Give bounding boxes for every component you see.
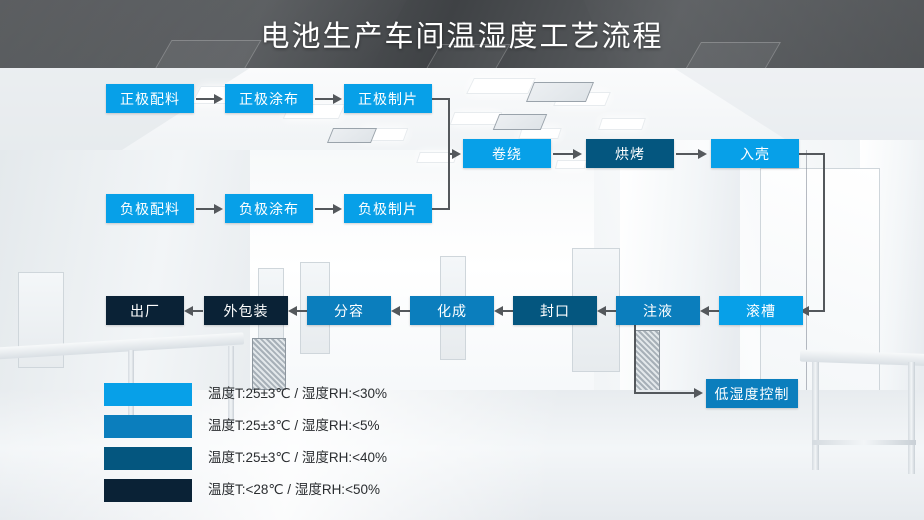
process-node-label: 正极配料 (120, 89, 180, 109)
process-node-anode-mixing[interactable]: 负极配料 (106, 194, 194, 223)
process-node-cathode-sheeting[interactable]: 正极制片 (344, 84, 432, 113)
glass-mullion (806, 150, 807, 418)
arrow-head-right (333, 204, 342, 214)
arrow-head-left (700, 306, 709, 316)
legend-item: 温度T:25±3℃ / 湿度RH:<40% (104, 447, 534, 479)
legend-label: 温度T:25±3℃ / 湿度RH:<40% (208, 446, 387, 466)
legend-item: 温度T:<28℃ / 湿度RH:<50% (104, 479, 534, 511)
process-node-label: 化成 (437, 301, 467, 321)
ceiling-light (598, 118, 646, 130)
process-node-label: 出厂 (130, 301, 160, 321)
legend-color-swatch (104, 447, 192, 470)
connector-line (196, 98, 216, 100)
process-node-label: 烘烤 (615, 144, 645, 164)
legend-label: 温度T:25±3℃ / 湿度RH:<30% (208, 382, 387, 402)
ceiling-light (466, 78, 536, 94)
connector-line (553, 153, 575, 155)
slide-canvas: 电池生产车间温湿度工艺流程 (0, 0, 924, 520)
connector-line (315, 208, 335, 210)
hepa-vent (327, 128, 377, 143)
process-node-shipping[interactable]: 出厂 (106, 296, 184, 325)
arrow-head-left (391, 306, 400, 316)
connector-line (196, 208, 216, 210)
workbench-right-leg (812, 362, 819, 470)
process-node-label: 注液 (643, 301, 673, 321)
arrow-head-right (573, 149, 582, 159)
arrow-head-right (214, 204, 223, 214)
process-node-sealing[interactable]: 封口 (513, 296, 597, 325)
connector-line (809, 310, 825, 312)
legend-color-swatch (104, 479, 192, 502)
process-node-liquid-filling[interactable]: 注液 (616, 296, 700, 325)
connector-line (799, 153, 825, 155)
arrow-head-left (184, 306, 193, 316)
connector-line (676, 153, 700, 155)
legend-label: 温度T:<28℃ / 湿度RH:<50% (208, 478, 380, 498)
process-node-label: 滚槽 (746, 301, 776, 321)
process-node-label: 卷绕 (492, 144, 522, 164)
connector-line (634, 325, 636, 393)
process-node-winding[interactable]: 卷绕 (463, 139, 551, 168)
hepa-vent (493, 114, 547, 130)
arrow-head-right (214, 94, 223, 104)
process-node-label: 负极配料 (120, 199, 180, 219)
arrow-head-right (333, 94, 342, 104)
process-node-casing[interactable]: 入壳 (711, 139, 799, 168)
process-node-label: 正极制片 (358, 89, 418, 109)
connector-line (634, 392, 696, 394)
process-node-cathode-mixing[interactable]: 正极配料 (106, 84, 194, 113)
wall-grille (634, 330, 660, 392)
workbench-right-leg (908, 362, 915, 474)
arrow-head-right (452, 149, 461, 159)
arrow-head-right (694, 388, 703, 398)
ceiling-light (555, 160, 587, 169)
process-node-formation[interactable]: 化成 (410, 296, 494, 325)
process-node-cathode-coating[interactable]: 正极涂布 (225, 84, 313, 113)
connector-line (823, 153, 825, 311)
arrow-head-left (494, 306, 503, 316)
process-node-label: 外包装 (224, 301, 269, 321)
process-node-anode-coating[interactable]: 负极涂布 (225, 194, 313, 223)
page-title: 电池生产车间温湿度工艺流程 (0, 0, 924, 68)
process-node-label: 入壳 (740, 144, 770, 164)
process-node-label: 正极涂布 (239, 89, 299, 109)
glass-door-right (760, 168, 880, 408)
process-node-outer-packing[interactable]: 外包装 (204, 296, 288, 325)
arrow-head-left (288, 306, 297, 316)
process-node-label: 低湿度控制 (715, 384, 790, 404)
process-node-groove-rolling[interactable]: 滚槽 (719, 296, 803, 325)
process-node-grading[interactable]: 分容 (307, 296, 391, 325)
legend-color-swatch (104, 415, 192, 438)
legend-color-swatch (104, 383, 192, 406)
legend-label: 温度T:25±3℃ / 湿度RH:<5% (208, 414, 380, 434)
legend-item: 温度T:25±3℃ / 湿度RH:<5% (104, 415, 534, 447)
workbench-right-rail (812, 440, 916, 445)
process-node-low-humidity-control[interactable]: 低湿度控制 (706, 379, 798, 408)
legend-item: 温度T:25±3℃ / 湿度RH:<30% (104, 383, 534, 415)
hepa-vent (526, 82, 594, 102)
process-node-label: 分容 (334, 301, 364, 321)
connector-line (315, 98, 335, 100)
title-bar: 电池生产车间温湿度工艺流程 (0, 0, 924, 68)
process-node-baking[interactable]: 烘烤 (586, 139, 674, 168)
legend: 温度T:25±3℃ / 湿度RH:<30%温度T:25±3℃ / 湿度RH:<5… (104, 383, 534, 511)
process-node-label: 封口 (540, 301, 570, 321)
arrow-head-right (698, 149, 707, 159)
process-node-anode-sheeting[interactable]: 负极制片 (344, 194, 432, 223)
process-node-label: 负极制片 (358, 199, 418, 219)
arrow-head-left (597, 306, 606, 316)
process-node-label: 负极涂布 (239, 199, 299, 219)
